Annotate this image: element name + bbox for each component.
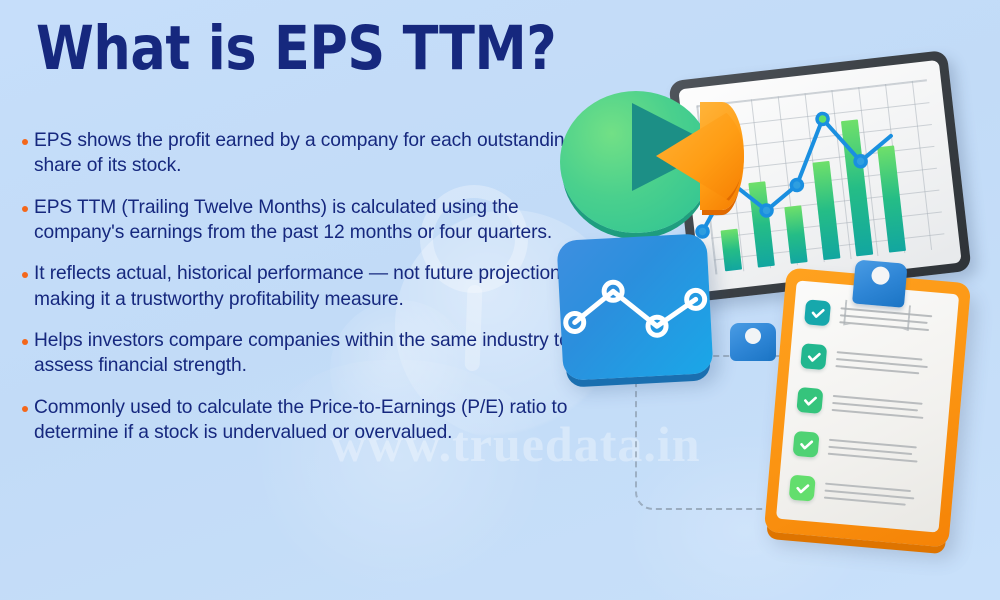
bullet-list: EPS shows the profit earned by a company… — [22, 128, 582, 445]
checklist-item[interactable] — [800, 343, 929, 379]
list-item: EPS TTM (Trailing Twelve Months) is calc… — [22, 195, 582, 246]
checklist-clipboard — [764, 267, 971, 547]
checklist-text-lines — [835, 351, 928, 375]
illustration-group — [540, 55, 1000, 575]
line-marker — [816, 113, 828, 125]
checklist-item[interactable] — [789, 475, 916, 511]
checklist-text-lines — [828, 438, 919, 462]
bullet-dot-icon — [22, 272, 28, 278]
bullet-dot-icon — [22, 339, 28, 345]
checklist-item[interactable] — [793, 431, 920, 467]
line-marker — [855, 155, 867, 167]
checkbox-checked-icon[interactable] — [800, 343, 827, 370]
text-line — [824, 496, 906, 505]
pie-chart — [560, 77, 740, 237]
text-line — [835, 365, 919, 374]
checklist-text-lines — [832, 394, 925, 418]
bullet-text: It reflects actual, historical performan… — [34, 261, 582, 312]
checkbox-checked-icon[interactable] — [796, 387, 823, 414]
checkbox-checked-icon[interactable] — [793, 431, 820, 458]
bullet-dot-icon — [22, 406, 28, 412]
bullet-dot-icon — [22, 206, 28, 212]
checklist-item[interactable] — [796, 387, 925, 423]
page-title: What is EPS TTM? — [36, 18, 556, 79]
bullet-text: Helps investors compare companies within… — [34, 328, 582, 379]
bullet-text: EPS shows the profit earned by a company… — [34, 128, 582, 179]
list-item: It reflects actual, historical performan… — [22, 261, 582, 312]
card-line-chart — [556, 233, 713, 381]
line-chart-card — [556, 233, 713, 381]
checklist-text-lines — [824, 482, 915, 506]
list-item: Commonly used to calculate the Price-to-… — [22, 395, 582, 446]
list-item: Helps investors compare companies within… — [22, 328, 582, 379]
line-path — [573, 287, 697, 331]
bullet-dot-icon — [22, 139, 28, 145]
infographic-canvas: www.truedata.in What is EPS TTM? EPS sho… — [0, 0, 1000, 600]
checkbox-checked-icon[interactable] — [789, 475, 816, 502]
list-item: EPS shows the profit earned by a company… — [22, 128, 582, 179]
checkbox-checked-icon[interactable] — [804, 299, 831, 326]
clipboard-clip-icon — [852, 259, 908, 307]
line-marker — [760, 204, 772, 216]
line-marker — [791, 179, 803, 191]
bullet-text: Commonly used to calculate the Price-to-… — [34, 395, 582, 446]
bullet-text: EPS TTM (Trailing Twelve Months) is calc… — [34, 195, 582, 246]
mini-clip-badge-icon — [730, 323, 776, 361]
